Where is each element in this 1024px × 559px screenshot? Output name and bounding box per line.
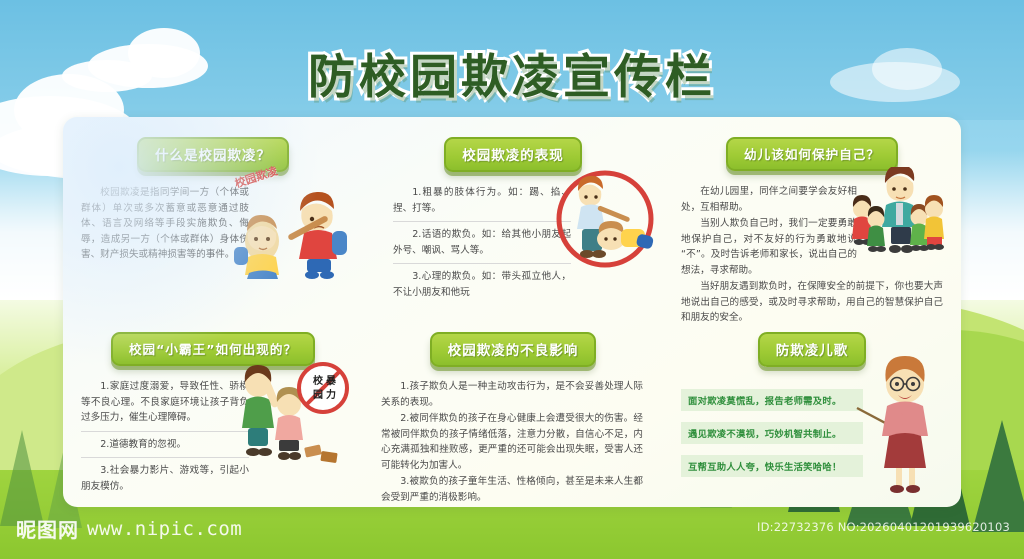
- section-heading-row: 校园欺凌的不良影响: [381, 332, 645, 367]
- illustration-physical-bullying: [553, 167, 657, 271]
- paragraph: 校园欺凌是指同学间一方（个体或群体）单次或多次蓄意或恶意通过肢体、语言及网络等手…: [81, 185, 249, 263]
- illustration-bullying-scene: 校园欺凌: [228, 169, 358, 279]
- section-heading-label: 幼儿该如何保护自己？: [744, 144, 880, 163]
- section-heading-label: 校园“小霸王”如何出现的？: [129, 339, 297, 358]
- section-heading-row: 什么是校园欺凌？: [81, 137, 345, 172]
- section-grid: 什么是校园欺凌？ 校园欺凌是指同学间一方（个体或群体）单次或多次蓄意或恶意通过肢…: [63, 117, 961, 507]
- list-item: 1.孩子欺负人是一种主动攻击行为，是不会妥善处理人际关系的表现。: [381, 379, 643, 410]
- section-heading-badge: 防欺凌儿歌: [758, 332, 867, 367]
- teacher-children-svg: [845, 167, 949, 263]
- illustration-bully-grabbing: 校 园 暴 力: [231, 360, 357, 470]
- section-how-bullies-appear: 校园“小霸王”如何出现的？ 1.家庭过度溺爱，导致任性、骄横等不良心理。不良家庭…: [63, 312, 363, 507]
- divider: [393, 263, 571, 264]
- poster-title-area: 防校园欺凌宣传栏: [0, 38, 1024, 107]
- rhyme-line: 面对欺凌莫慌乱，报告老师需及时。: [681, 389, 863, 411]
- illustration-teacher-and-children: [845, 167, 949, 263]
- section-negative-effects: 校园欺凌的不良影响 1.孩子欺负人是一种主动攻击行为，是不会妥善处理人际关系的表…: [363, 312, 663, 507]
- section-body: 1.家庭过度溺爱，导致任性、骄横等不良心理。不良家庭环境让孩子背负过多压力，催生…: [81, 379, 249, 494]
- section-heading-label: 校园欺凌的表现: [462, 144, 564, 164]
- section-self-protection: 幼儿该如何保护自己？ 在幼儿园里，同伴之间要学会友好相处，互相帮助。 当别人欺负…: [663, 117, 961, 312]
- rhyme-list: 面对欺凌莫慌乱，报告老师需及时。 遇见欺凌不漠视，巧妙机智共制止。 互帮互助人人…: [681, 389, 863, 477]
- section-body: 1.粗暴的肢体行为。如：踢、掐、捏、打等。 2.话语的欺负。如：给其他小朋友起外…: [393, 185, 571, 300]
- rhyme-line: 互帮互助人人夸，快乐生活笑哈哈！: [681, 455, 863, 477]
- section-manifestations: 校园欺凌的表现 1.粗暴的肢体行为。如：踢、掐、捏、打等。 2.话语的欺负。如：…: [363, 117, 663, 312]
- site-logo-cn: 昵图网: [16, 514, 79, 543]
- list-item: 3.心理的欺负。如：带头孤立他人，不让小朋友和他玩: [393, 269, 571, 300]
- paragraph: 当别人欺负自己时，我们一定要勇敢地保护自己，对不友好的行为勇敢地说“不”。及时告…: [681, 216, 857, 278]
- asset-id-text: ID:22732376 NO:20260401201939620103: [757, 520, 1010, 534]
- rhyme-line: 遇见欺凌不漠视，巧妙机智共制止。: [681, 422, 863, 444]
- divider: [393, 221, 571, 222]
- section-heading-badge: 幼儿该如何保护自己？: [726, 137, 898, 171]
- list-item: 2.被同伴欺负的孩子在身心健康上会遭受很大的伤害。经常被同伴欺负的孩子情绪低落，…: [381, 411, 643, 473]
- section-what-is-bullying: 什么是校园欺凌？ 校园欺凌是指同学间一方（个体或群体）单次或多次蓄意或恶意通过肢…: [63, 117, 363, 312]
- bully-grabbing-svg: 校 园 暴 力: [231, 360, 357, 470]
- list-item: 3.社会暴力影片、游戏等，引起小朋友模仿。: [81, 463, 249, 494]
- section-body: 1.孩子欺负人是一种主动攻击行为，是不会妥善处理人际关系的表现。 2.被同伴欺负…: [381, 379, 643, 505]
- divider: [81, 431, 249, 432]
- divider: [81, 457, 249, 458]
- physical-bullying-svg: [553, 167, 657, 271]
- svg-text:暴: 暴: [325, 374, 337, 387]
- section-heading-badge: 校园欺凌的不良影响: [430, 332, 597, 367]
- list-item: 1.家庭过度溺爱，导致任性、骄横等不良心理。不良家庭环境让孩子背负过多压力，催生…: [81, 379, 249, 426]
- paragraph: 在幼儿园里，同伴之间要学会友好相处，互相帮助。: [681, 184, 857, 215]
- section-anti-bullying-song: 防欺凌儿歌 面对欺凌莫慌乱，报告老师需及时。 遇见欺凌不漠视，巧妙机智共制止。 …: [663, 312, 961, 507]
- illustration-teacher-pointer: [853, 356, 949, 496]
- tree-icon: [972, 420, 1024, 532]
- wrapped-text-block: 在幼儿园里，同伴之间要学会友好相处，互相帮助。 当别人欺负自己时，我们一定要勇敢…: [681, 184, 857, 278]
- section-heading-label: 防欺凌儿歌: [776, 339, 849, 359]
- list-item: 2.话语的欺负。如：给其他小朋友起外号、嘲讽、骂人等。: [393, 227, 571, 258]
- list-item: 3.被欺负的孩子童年生活、性格倾向，甚至是未来人生都会受到严重的消极影响。: [381, 474, 643, 505]
- svg-text:园: 园: [313, 389, 323, 401]
- teacher-pointer-svg: [853, 356, 949, 496]
- section-body: 校园欺凌是指同学间一方（个体或群体）单次或多次蓄意或恶意通过肢体、语言及网络等手…: [81, 185, 249, 263]
- section-heading-label: 校园欺凌的不良影响: [448, 339, 579, 359]
- svg-text:力: 力: [326, 388, 336, 401]
- svg-text:校: 校: [313, 374, 324, 387]
- content-panel: 什么是校园欺凌？ 校园欺凌是指同学间一方（个体或群体）单次或多次蓄意或恶意通过肢…: [63, 117, 961, 507]
- page-title: 防校园欺凌宣传栏: [308, 38, 716, 107]
- section-heading-label: 什么是校园欺凌？: [155, 144, 271, 164]
- poster-canvas: 防校园欺凌宣传栏 什么是校园欺凌？ 校园欺凌是指同学间一方（个体或群体）单次或多…: [0, 0, 1024, 559]
- list-item: 2.道德教育的忽视。: [81, 437, 249, 453]
- list-item: 1.粗暴的肢体行为。如：踢、掐、捏、打等。: [393, 185, 571, 216]
- site-logo-url: www.nipic.com: [87, 518, 242, 540]
- tree-icon: [0, 430, 44, 526]
- site-watermark: 昵图网 www.nipic.com: [16, 514, 242, 543]
- section-heading-row: 幼儿该如何保护自己？: [681, 137, 943, 171]
